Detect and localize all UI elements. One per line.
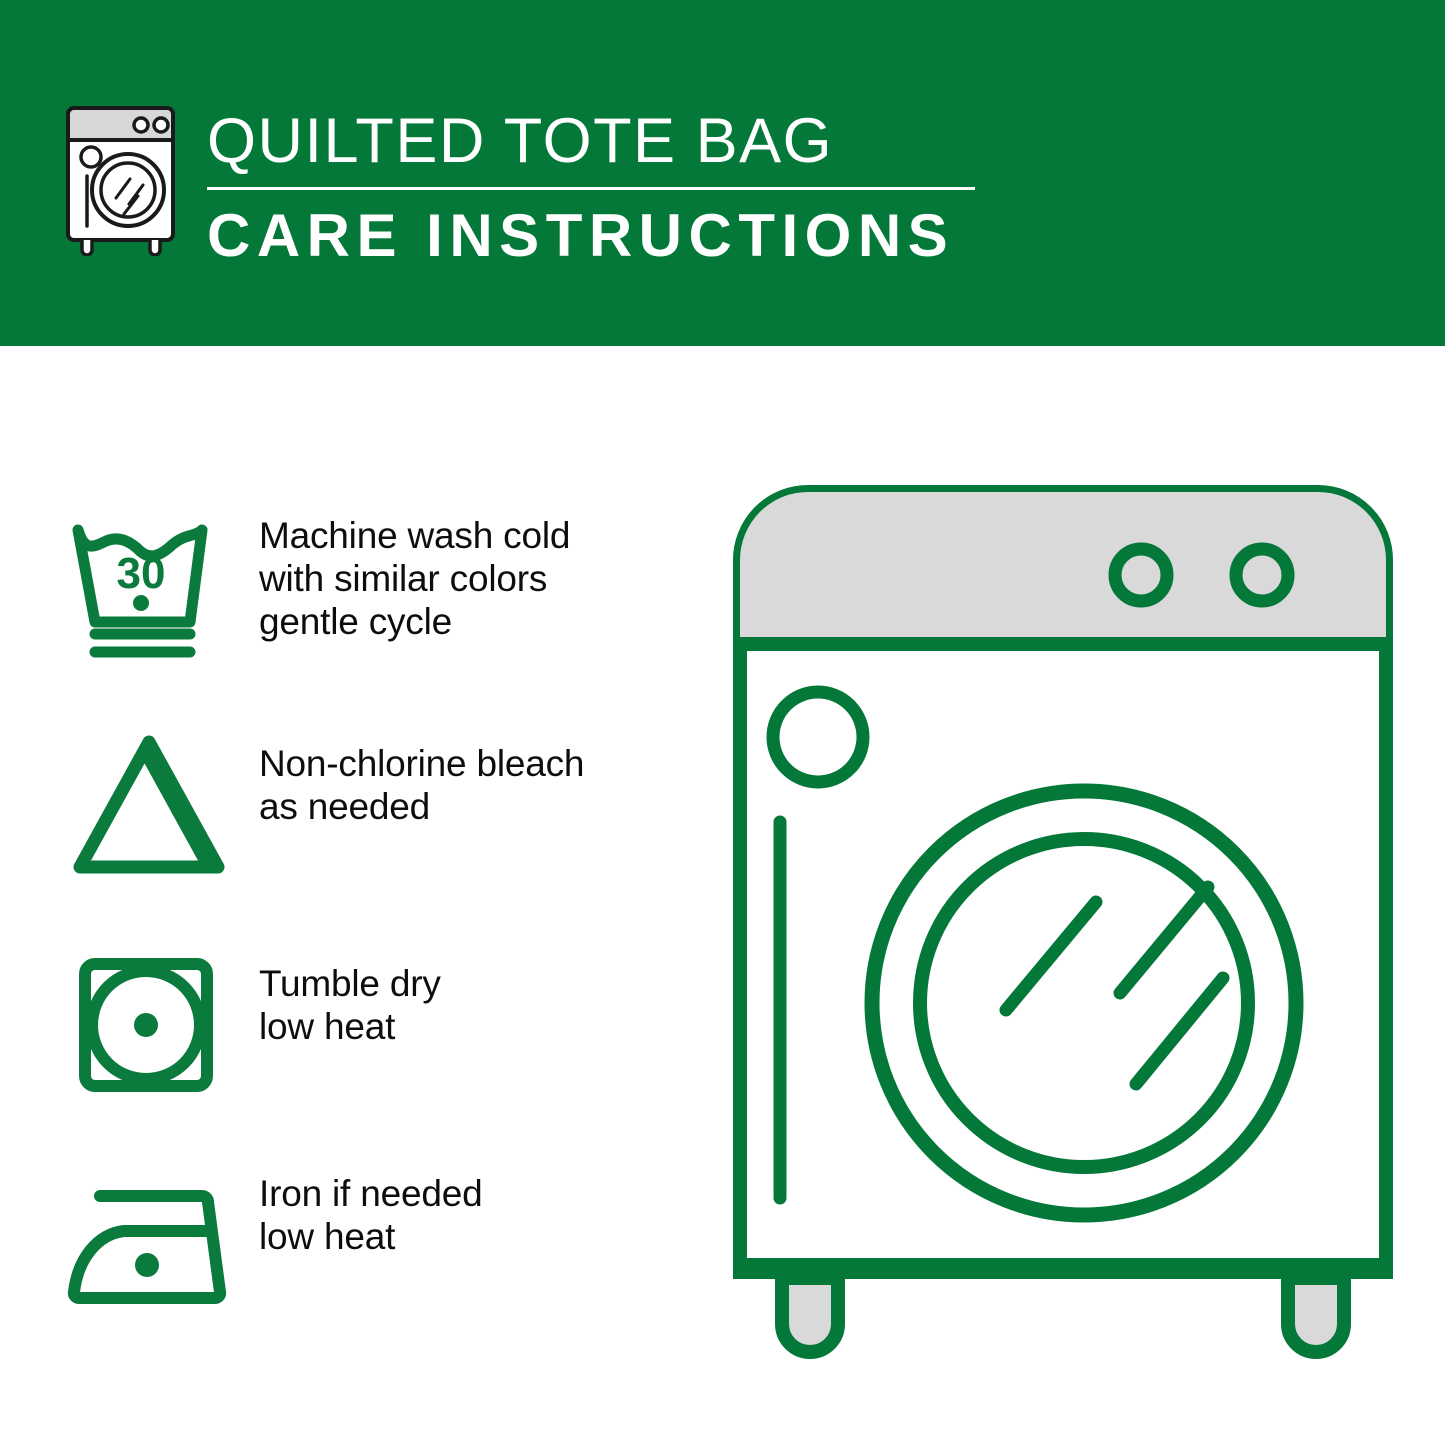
care-label-line: low heat — [259, 1215, 482, 1258]
care-label-line: as needed — [259, 785, 584, 828]
tumble-dry-icon — [62, 938, 237, 1113]
care-label-iron: Iron if needed low heat — [259, 1172, 482, 1258]
care-instruction-list: 30 Machine wash cold with similar colors… — [0, 478, 700, 1350]
care-label-line: Tumble dry — [259, 962, 441, 1005]
machine-leg — [1288, 1278, 1344, 1352]
page-subtitle: CARE INSTRUCTIONS — [207, 202, 997, 270]
care-label-bleach: Non-chlorine bleach as needed — [259, 742, 584, 828]
machine-leg — [782, 1278, 838, 1352]
wash-temperature-value: 30 — [117, 549, 166, 598]
care-label-line: Iron if needed — [259, 1172, 482, 1215]
indicator-light — [773, 692, 863, 782]
care-label-line: with similar colors — [259, 557, 570, 600]
care-label-tumble-dry: Tumble dry low heat — [259, 962, 441, 1048]
knob — [1115, 549, 1167, 601]
care-row-iron: Iron if needed low heat — [0, 1132, 700, 1350]
front-load-washing-machine-illustration — [718, 470, 1408, 1370]
wash-tub-icon: 30 — [62, 496, 237, 671]
washing-machine-icon — [62, 104, 184, 256]
title-divider — [207, 187, 975, 190]
care-label-line: gentle cycle — [259, 600, 570, 643]
header-text-block: QUILTED TOTE BAG CARE INSTRUCTIONS — [207, 104, 997, 270]
header-banner: QUILTED TOTE BAG CARE INSTRUCTIONS — [0, 0, 1445, 346]
care-instructions-page: QUILTED TOTE BAG CARE INSTRUCTIONS 30 — [0, 0, 1445, 1445]
care-row-bleach: Non-chlorine bleach as needed — [0, 696, 700, 914]
care-row-machine-wash: 30 Machine wash cold with similar colors… — [0, 478, 700, 696]
knob — [1236, 549, 1288, 601]
care-label-line: low heat — [259, 1005, 441, 1048]
care-label-line: Machine wash cold — [259, 514, 570, 557]
bleach-triangle-icon — [62, 720, 237, 895]
care-row-tumble-dry: Tumble dry low heat — [0, 914, 700, 1132]
care-label-line: Non-chlorine bleach — [259, 742, 584, 785]
page-title: QUILTED TOTE BAG — [207, 104, 997, 178]
iron-icon — [62, 1158, 237, 1333]
care-label-machine-wash: Machine wash cold with similar colors ge… — [259, 514, 570, 643]
